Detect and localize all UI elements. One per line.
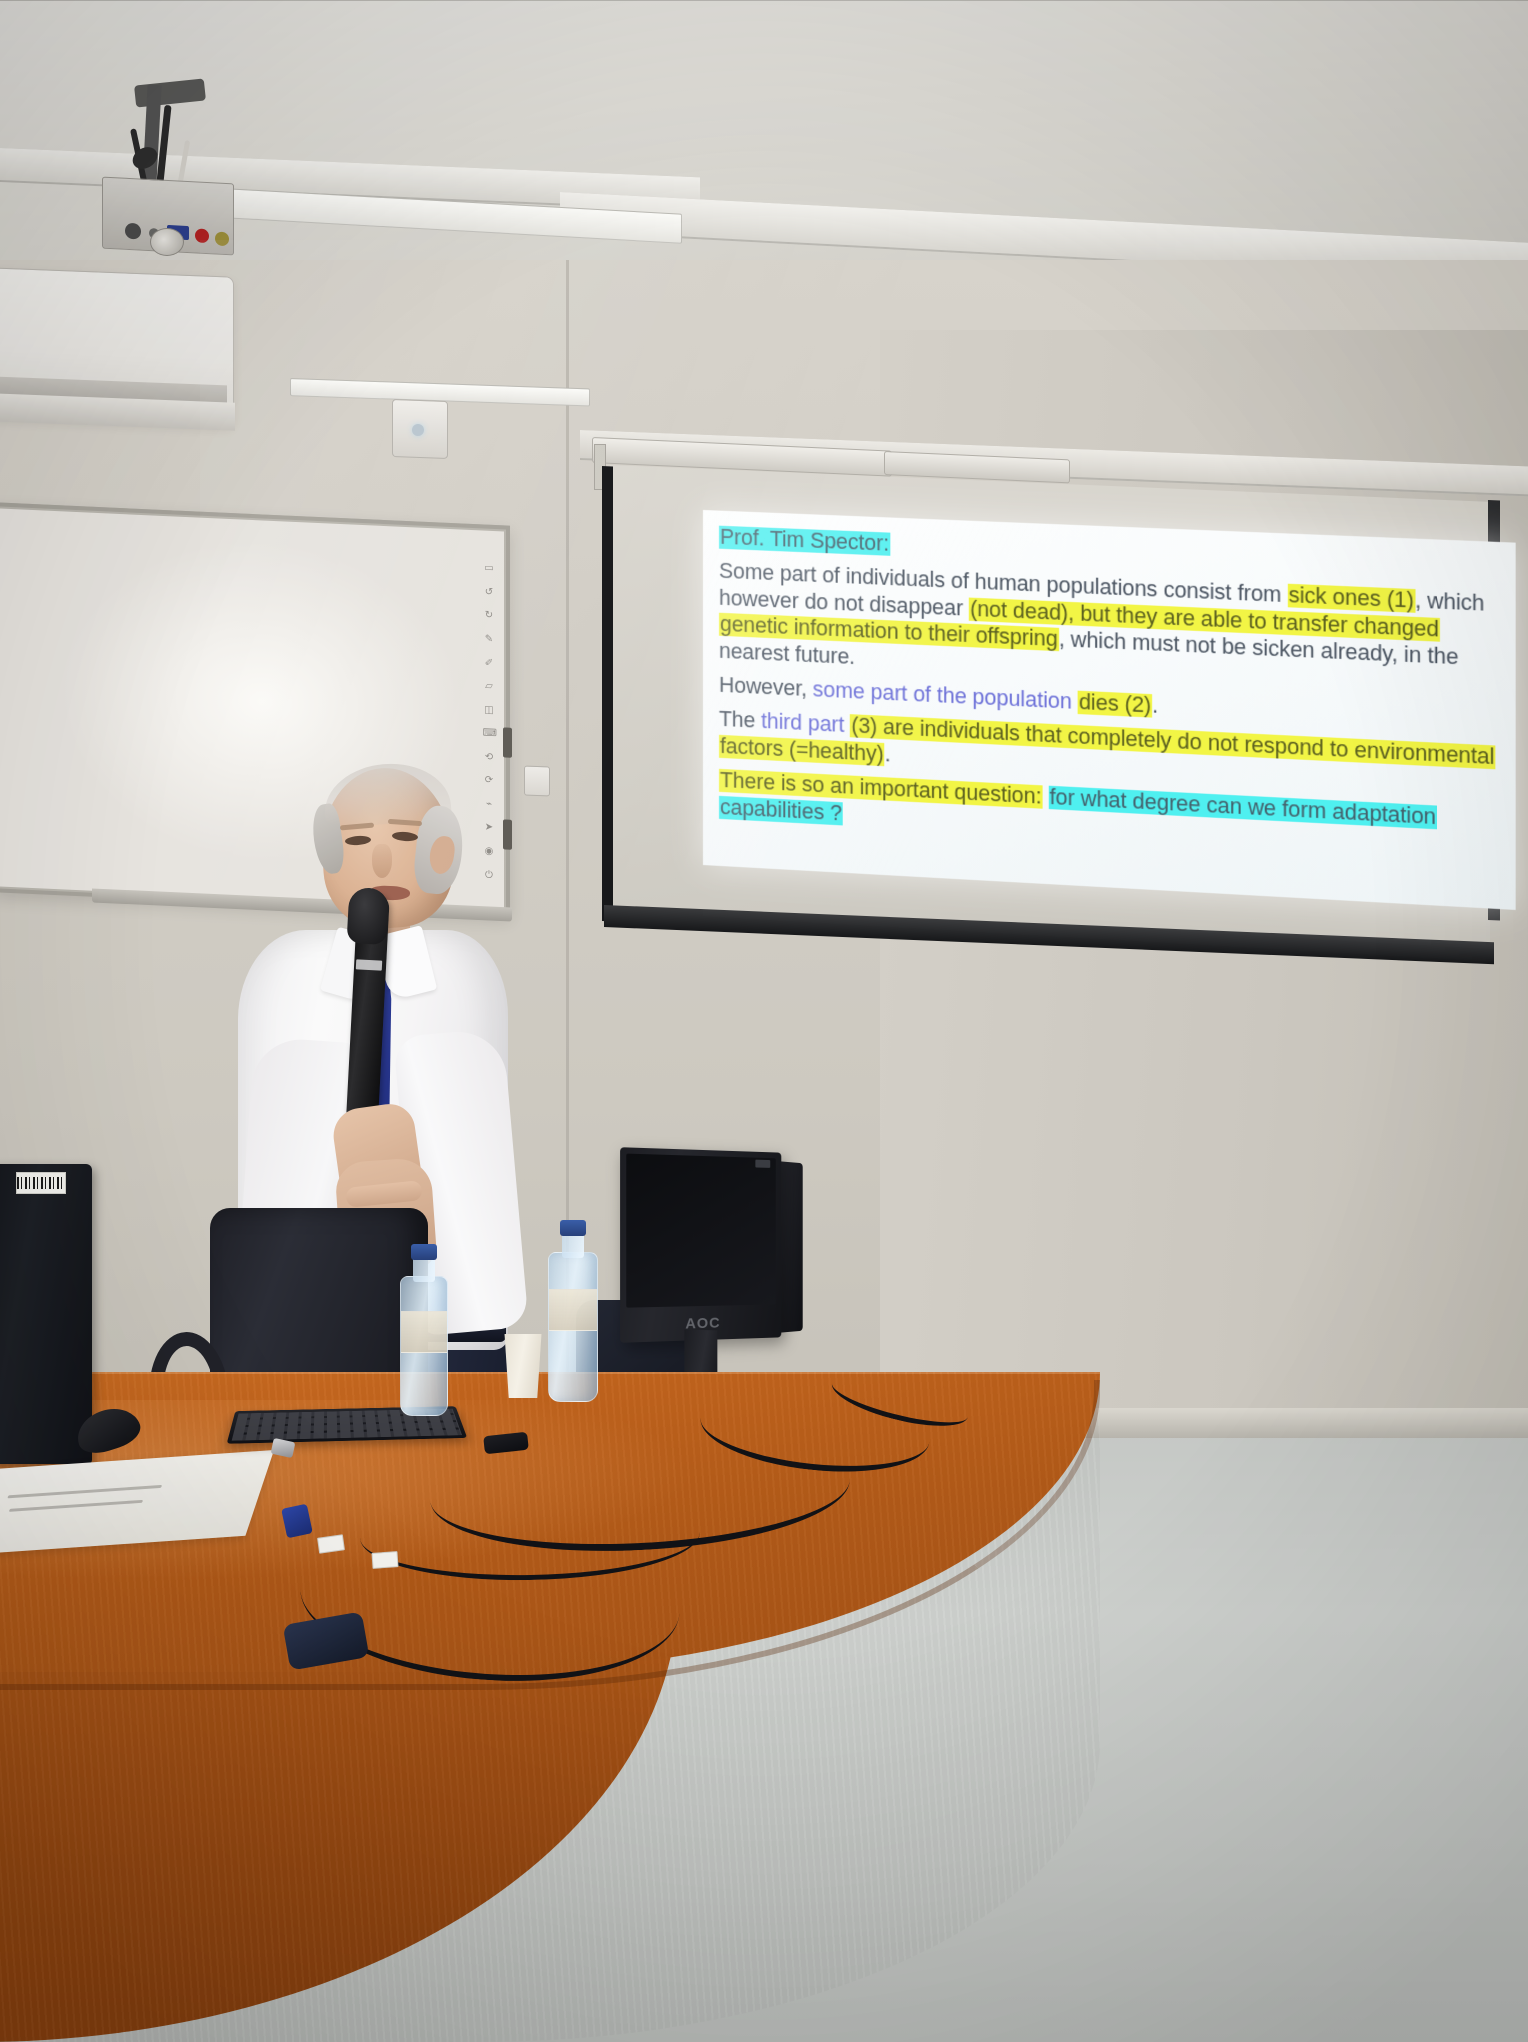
undo-icon[interactable]: ↺ xyxy=(483,585,496,599)
lecture-hall-photo: ▭ ↺ ↻ ✎ ✐ ▱ ◫ ⌨ ⟲ ⟳ ⌁ ➤ ◉ ⏻ Prof. Tim Sp… xyxy=(0,0,1528,2042)
paper-cup[interactable] xyxy=(502,1334,544,1398)
projector-port-1 xyxy=(125,223,141,240)
bottle-1-cap[interactable] xyxy=(411,1244,437,1260)
slide-run-highlight: sick ones (1) xyxy=(1288,584,1415,613)
microphone-label xyxy=(356,959,382,970)
redo-icon[interactable]: ↻ xyxy=(483,609,496,623)
ceiling-seam xyxy=(0,0,1528,1)
slide-content: Prof. Tim Spector: Some part of individu… xyxy=(719,525,1499,863)
slide-run-blue: some part of the population xyxy=(813,678,1072,714)
slide-run: However, xyxy=(719,674,813,702)
monitor-power-led-icon xyxy=(755,1160,770,1168)
cable-label-tag-2 xyxy=(371,1551,398,1569)
page-icon[interactable]: ▭ xyxy=(483,562,496,576)
slide-title: Prof. Tim Spector: xyxy=(719,526,890,556)
slide-run: The xyxy=(719,708,761,733)
paper-text-line xyxy=(9,1500,143,1512)
paper-text-line xyxy=(7,1485,162,1498)
bottle-2-cap[interactable] xyxy=(560,1220,586,1236)
sensor-indicator-icon xyxy=(412,424,424,436)
projection-screen-left-border xyxy=(602,466,613,921)
monitor-screen xyxy=(626,1154,776,1308)
microphone-head-icon xyxy=(347,887,390,945)
speaker-nose xyxy=(372,844,392,878)
highlighter-icon[interactable]: ✐ xyxy=(483,656,496,670)
bottle-label xyxy=(549,1289,597,1331)
slide-run-highlight: dies (2) xyxy=(1078,691,1152,718)
projector-lens-icon xyxy=(150,228,184,256)
pc-asset-barcode xyxy=(16,1172,66,1194)
shapes-icon[interactable]: ◫ xyxy=(483,703,496,717)
whiteboard-hinge-mid xyxy=(503,727,512,757)
water-bottle-1[interactable] xyxy=(400,1276,448,1416)
computer-monitor[interactable]: AOC xyxy=(620,1147,781,1343)
projector-audio-port xyxy=(195,228,209,243)
keyboard-icon[interactable]: ⌨ xyxy=(483,727,496,741)
slide-run xyxy=(1043,786,1049,810)
eraser-icon[interactable]: ▱ xyxy=(483,680,496,694)
slide-run: . xyxy=(1152,694,1158,718)
pen-icon[interactable]: ✎ xyxy=(483,632,496,646)
projected-slide: Prof. Tim Spector: Some part of individu… xyxy=(703,510,1516,910)
pc-tower[interactable] xyxy=(0,1164,92,1464)
projector-power-port xyxy=(215,231,229,246)
slide-run: . xyxy=(885,743,891,766)
water-bottle-2[interactable] xyxy=(548,1252,598,1402)
bottle-label xyxy=(401,1311,447,1353)
slide-run-blue: third part xyxy=(761,710,844,737)
